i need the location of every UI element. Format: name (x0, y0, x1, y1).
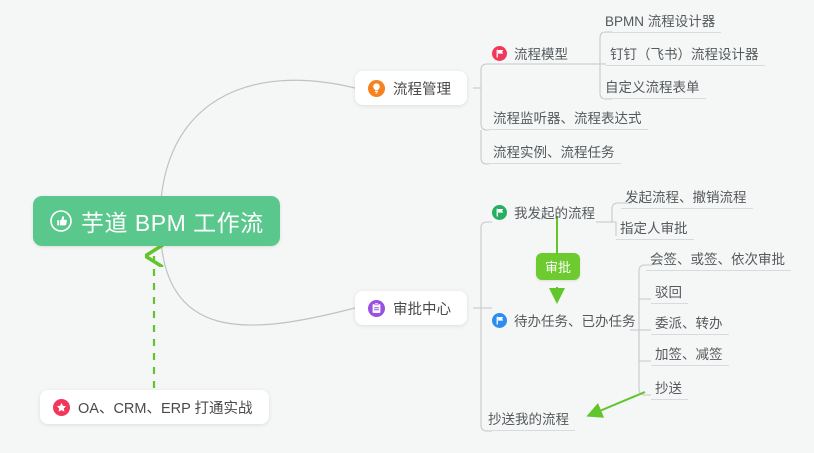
node-bpmn-designer-label: BPMN 流程设计器 (605, 10, 715, 30)
arrow-cc-to-cc-my (590, 392, 645, 415)
node-carbon-copy[interactable]: 抄送 (651, 375, 688, 400)
link-approval-to-my-started (481, 222, 492, 308)
node-start-cancel-process-label: 发起流程、撤销流程 (625, 186, 747, 206)
node-my-started-process[interactable]: 我发起的流程 (492, 201, 595, 223)
node-add-remove-sign[interactable]: 加签、减签 (651, 341, 729, 366)
root-label: 芋道 BPM 工作流 (81, 204, 264, 238)
clipboard-icon (368, 300, 385, 317)
node-dingtalk-designer[interactable]: 钉钉（飞书）流程设计器 (606, 41, 765, 66)
node-assign-approver-label: 指定人审批 (620, 217, 688, 237)
node-custom-form[interactable]: 自定义流程表单 (601, 74, 706, 99)
node-start-cancel-process[interactable]: 发起流程、撤销流程 (621, 184, 753, 209)
node-flow-management-label: 流程管理 (393, 78, 451, 99)
node-oa-crm-erp[interactable]: OA、CRM、ERP 打通实战 (40, 390, 269, 424)
link-flow-management-spine (481, 64, 600, 88)
flag-icon (492, 313, 507, 328)
node-delegate-transfer[interactable]: 委派、转办 (651, 310, 729, 335)
mindmap-canvas: 芋道 BPM 工作流 流程管理 流程模型 BPMN 流程设计器 钉钉（飞书）流程… (0, 0, 814, 453)
node-approval-center[interactable]: 审批中心 (355, 291, 467, 325)
link-flow-management-to-listener (481, 88, 489, 130)
node-assign-approver[interactable]: 指定人审批 (616, 215, 694, 240)
link-todo-to-addsign (639, 330, 651, 361)
node-countersign-label: 会签、或签、依次审批 (650, 248, 785, 268)
node-flow-model-label: 流程模型 (514, 43, 568, 63)
node-bpmn-designer[interactable]: BPMN 流程设计器 (601, 8, 721, 33)
node-custom-form-label: 自定义流程表单 (605, 76, 700, 96)
node-carbon-copy-label: 抄送 (655, 377, 682, 397)
node-flow-listener-label: 流程监听器、流程表达式 (493, 107, 642, 127)
flag-icon (492, 205, 507, 220)
flag-icon (492, 46, 507, 61)
link-todo-to-cc (639, 330, 651, 395)
approval-annotation-chip: 审批 (536, 253, 580, 280)
node-cc-my-process[interactable]: 抄送我的流程 (484, 406, 575, 431)
node-flow-management[interactable]: 流程管理 (355, 71, 467, 105)
root-node[interactable]: 芋道 BPM 工作流 (33, 196, 280, 246)
node-todo-done-tasks-label: 待办任务、已办任务 (514, 310, 636, 330)
lightbulb-icon (368, 80, 385, 97)
star-icon (53, 399, 70, 416)
node-delegate-transfer-label: 委派、转办 (655, 312, 723, 332)
node-flow-instance[interactable]: 流程实例、流程任务 (489, 139, 621, 164)
node-oa-crm-erp-label: OA、CRM、ERP 打通实战 (78, 397, 253, 418)
thumbs-up-icon (50, 210, 72, 232)
node-my-started-process-label: 我发起的流程 (514, 202, 595, 222)
node-flow-model[interactable]: 流程模型 (492, 42, 568, 64)
approval-annotation-label: 审批 (545, 260, 571, 275)
node-countersign[interactable]: 会签、或签、依次审批 (646, 246, 791, 271)
link-flow-management-to-instance (481, 130, 489, 164)
node-flow-listener[interactable]: 流程监听器、流程表达式 (489, 105, 648, 130)
node-add-remove-sign-label: 加签、减签 (655, 343, 723, 363)
node-flow-instance-label: 流程实例、流程任务 (493, 141, 615, 161)
node-cc-my-process-label: 抄送我的流程 (488, 408, 569, 428)
link-todo-to-reject (639, 299, 651, 330)
node-todo-done-tasks[interactable]: 待办任务、已办任务 (492, 309, 636, 331)
node-reject[interactable]: 驳回 (651, 279, 688, 304)
node-dingtalk-designer-label: 钉钉（飞书）流程设计器 (610, 43, 759, 63)
node-reject-label: 驳回 (655, 281, 682, 301)
node-approval-center-label: 审批中心 (393, 298, 451, 319)
